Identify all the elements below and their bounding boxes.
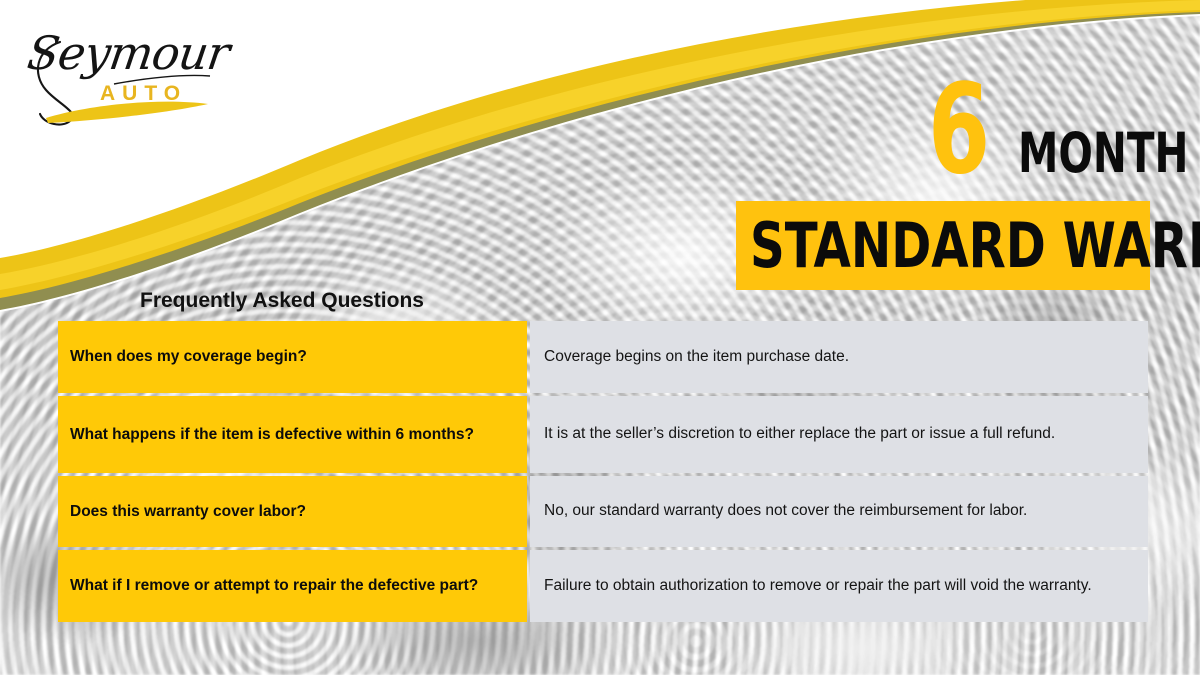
logo-wordmark: Seymour [24,26,232,80]
seymour-auto-logo: Seymour AUTO [22,20,237,130]
faq-question-cell: When does my coverage begin? [58,321,527,393]
faq-answer-text: No, our standard warranty does not cover… [544,500,1136,522]
faq-table: When does my coverage begin? Coverage be… [58,321,1148,622]
faq-answer-text: It is at the seller’s discretion to eith… [544,423,1136,445]
faq-heading: Frequently Asked Questions [140,289,424,313]
logo-subtitle: AUTO [100,82,187,106]
faq-answer-cell: No, our standard warranty does not cover… [530,476,1148,547]
standard-warranty-banner: STANDARD WARRANTY [736,201,1150,290]
warranty-slide: Seymour AUTO 6 MONTH STANDARD WARRANTY F… [0,0,1200,675]
faq-question-text: What happens if the item is defective wi… [70,424,474,446]
table-row: What if I remove or attempt to repair th… [58,550,1148,622]
faq-question-cell: Does this warranty cover labor? [58,476,527,547]
table-row: When does my coverage begin? Coverage be… [58,321,1148,393]
faq-question-text: What if I remove or attempt to repair th… [70,575,478,597]
warranty-duration-unit: MONTH [1018,126,1188,181]
faq-question-cell: What if I remove or attempt to repair th… [58,550,527,622]
table-row: Does this warranty cover labor? No, our … [58,476,1148,547]
faq-answer-cell: Coverage begins on the item purchase dat… [530,321,1148,393]
standard-warranty-banner-text: STANDARD WARRANTY [750,213,1084,278]
table-row: What happens if the item is defective wi… [58,396,1148,473]
faq-question-text: Does this warranty cover labor? [70,501,306,523]
faq-answer-text: Failure to obtain authorization to remov… [544,575,1136,597]
faq-question-text: When does my coverage begin? [70,346,307,368]
faq-question-cell: What happens if the item is defective wi… [58,396,527,473]
faq-answer-cell: It is at the seller’s discretion to eith… [530,396,1148,473]
faq-answer-cell: Failure to obtain authorization to remov… [530,550,1148,622]
warranty-duration-number: 6 [928,68,989,192]
faq-answer-text: Coverage begins on the item purchase dat… [544,346,1136,368]
